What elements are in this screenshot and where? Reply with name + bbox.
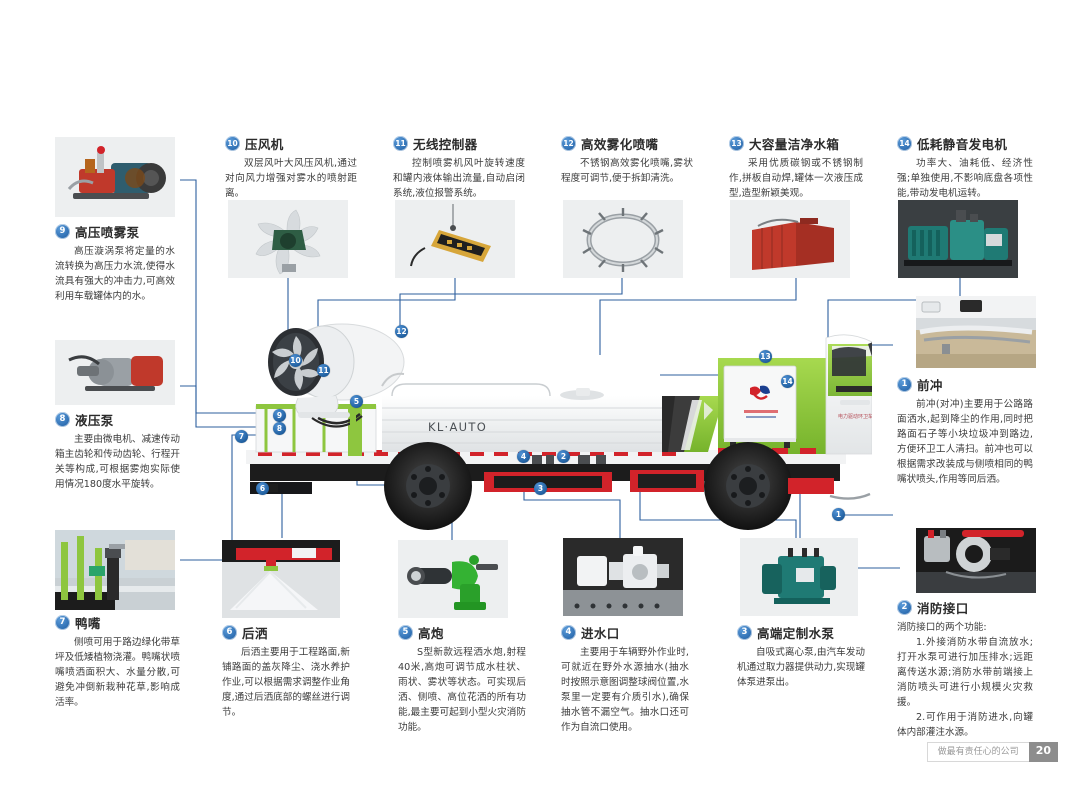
callout-10: 10 压风机 双层风叶大风压风机,通过对向风力增强对雾水的喷射距离。: [225, 134, 357, 201]
callout-1-head: 1 前冲: [897, 375, 1033, 394]
footer-page-number: 20: [1029, 742, 1058, 762]
truck-pin-11[interactable]: 11: [317, 364, 330, 377]
callout-11-body: 控制喷雾机风叶旋转速度和罐内液体输出流量,自动启闭系统,液位报警系统。: [393, 156, 525, 201]
hydraulic-pump-photo: [55, 340, 175, 405]
duckbill-graphic: [55, 530, 175, 610]
blower-graphic: [228, 200, 348, 278]
callout-14-body: 功率大、油耗低、经济性强;单独使用,不影响底盘各项性能,带动发电机运转。: [897, 156, 1033, 201]
callout-9-body: 高压漩涡泵将定量的水流转换为高压力水流,使得水流具有强大的冲击力,可高效利用车载…: [55, 244, 175, 304]
tank-graphic: [730, 200, 850, 278]
callout-11-title: 无线控制器: [413, 134, 478, 153]
callout-10-body: 双层风叶大风压风机,通过对向风力增强对雾水的喷射距离。: [225, 156, 357, 201]
callout-14-head: 14 低耗静音发电机: [897, 134, 1033, 153]
high-pressure-spray-pump-photo: [55, 137, 175, 217]
front-flush-graphic: [916, 296, 1036, 368]
callout-12-head: 12 高效雾化喷嘴: [561, 134, 693, 153]
callout-6-body: 后洒主要用于工程路面,新铺路面的盖灰降尘、浇水养护作业,可以根据需求调整作业角度…: [222, 645, 350, 720]
truck-pin-6[interactable]: 6: [256, 482, 269, 495]
callout-5-badge: 5: [398, 625, 413, 640]
truck-pin-9[interactable]: 9: [273, 409, 286, 422]
rear-spray-graphic: [222, 540, 340, 618]
front-flush-photo: [916, 296, 1036, 368]
callout-3-head: 3 高端定制水泵: [737, 623, 865, 642]
callout-4-head: 4 进水口: [561, 623, 689, 642]
callout-4-body: 主要用于车辆野外作业时,可就近在野外水源抽水(抽水时按照示意图调整球阀位置,水泵…: [561, 645, 689, 735]
callout-7-badge: 7: [55, 615, 70, 630]
water-cannon-photo: [398, 540, 508, 618]
callout-14: 14 低耗静音发电机 功率大、油耗低、经济性强;单独使用,不影响底盘各项性能,带…: [897, 134, 1033, 201]
callout-1-body: 前冲(对冲)主要用于公路路面洒水,起到降尘的作用,同时把路面石子等小块垃圾冲到路…: [897, 397, 1033, 487]
rear-spray-photo: [222, 540, 340, 618]
clean-water-tank-photo: [730, 200, 850, 278]
callout-12-title: 高效雾化喷嘴: [581, 134, 658, 153]
pump-graphic: [55, 137, 175, 217]
callout-3-badge: 3: [737, 625, 752, 640]
callout-13-title: 大容量洁净水箱: [749, 134, 839, 153]
callout-2: 2 消防接口 消防接口的两个功能: 1.外接消防水带自流放水;打开水泵可进行加压…: [897, 598, 1033, 740]
callout-2-body-2: 1.外接消防水带自流放水;打开水泵可进行加压排水;远距离传送水源;消防水带前端接…: [897, 635, 1033, 710]
wheel-front: [704, 442, 792, 530]
water-cannon-graphic: [398, 540, 508, 618]
callout-2-body: 消防接口的两个功能:: [897, 620, 1033, 635]
footer-slogan: 做最有责任心的公司: [927, 742, 1029, 762]
callout-1-title: 前冲: [917, 375, 943, 394]
callout-3-title: 高端定制水泵: [757, 623, 834, 642]
callout-12-body: 不锈钢高效雾化喷嘴,雾状程度可调节,便于拆卸清洗。: [561, 156, 693, 186]
callout-1: 1 前冲 前冲(对冲)主要用于公路路面洒水,起到降尘的作用,同时把路面石子等小块…: [897, 375, 1033, 487]
air-blower-photo: [228, 200, 348, 278]
callout-8-badge: 8: [55, 412, 70, 427]
callout-4-badge: 4: [561, 625, 576, 640]
callout-8-body: 主要由微电机、减速传动箱主齿轮和传动齿轮、行程开关等构成,可根据雾炮实际使用情况…: [55, 432, 180, 492]
callout-8-head: 8 液压泵: [55, 410, 180, 429]
wheel-rear: [384, 442, 472, 530]
callout-12: 12 高效雾化喷嘴 不锈钢高效雾化喷嘴,雾状程度可调节,便于拆卸清洗。: [561, 134, 693, 186]
callout-11-head: 11 无线控制器: [393, 134, 525, 153]
callout-9-title: 高压喷雾泵: [75, 222, 140, 241]
callout-13-badge: 13: [729, 136, 744, 151]
controller-graphic: [395, 200, 515, 278]
fire-connector-graphic: [916, 528, 1036, 593]
callout-2-badge: 2: [897, 600, 912, 615]
truck-body-brand-text: KL·AUTO: [428, 420, 487, 434]
generator-graphic: [898, 200, 1018, 278]
truck-pin-8[interactable]: 8: [273, 422, 286, 435]
callout-13-head: 13 大容量洁净水箱: [729, 134, 863, 153]
callout-10-title: 压风机: [245, 134, 284, 153]
atomizing-nozzle-photo: [563, 200, 683, 278]
callout-2-title: 消防接口: [917, 598, 969, 617]
callout-1-badge: 1: [897, 377, 912, 392]
callout-4: 4 进水口 主要用于车辆野外作业时,可就近在野外水源抽水(抽水时按照示意图调整球…: [561, 623, 689, 735]
callout-6-head: 6 后洒: [222, 623, 350, 642]
callout-13: 13 大容量洁净水箱 采用优质碳钢或不锈钢制作,拼板自动焊,罐体一次液压成型,造…: [729, 134, 863, 201]
truck-pin-5[interactable]: 5: [350, 395, 363, 408]
callout-11-badge: 11: [393, 136, 408, 151]
callout-4-title: 进水口: [581, 623, 620, 642]
callout-7-body: 侧喷可用于路边绿化带草坪及低矮植物浇灌。鸭嘴状喷嘴喷洒面积大、水量分散,可避免冲…: [55, 635, 180, 710]
duckbill-nozzle-photo: [55, 530, 175, 610]
callout-5-body: S型新款远程洒水炮,射程40米,高炮可调节成水柱状、雨状、雾状等状态。可实现后洒…: [398, 645, 526, 735]
low-noise-generator-photo: [898, 200, 1018, 278]
callout-6-badge: 6: [222, 625, 237, 640]
callout-7-title: 鸭嘴: [75, 613, 101, 632]
truck-pin-1[interactable]: 1: [832, 508, 845, 521]
water-pump-photo: [740, 538, 858, 616]
callout-10-head: 10 压风机: [225, 134, 357, 153]
water-pump-graphic: [740, 538, 858, 616]
truck-pin-12[interactable]: 12: [395, 325, 408, 338]
callout-14-badge: 14: [897, 136, 912, 151]
page-footer: 做最有责任心的公司 20: [927, 742, 1058, 762]
callout-14-title: 低耗静音发电机: [917, 134, 1007, 153]
truck-pin-13[interactable]: 13: [759, 350, 772, 363]
truck-pin-3[interactable]: 3: [534, 482, 547, 495]
hydraulic-pump-graphic: [55, 340, 175, 405]
truck-svg: KL·AUTO: [232, 300, 872, 550]
callout-7: 7 鸭嘴 侧喷可用于路边绿化带草坪及低矮植物浇灌。鸭嘴状喷嘴喷洒面积大、水量分散…: [55, 613, 180, 710]
water-inlet-photo: [563, 538, 683, 616]
nozzle-ring-graphic: [563, 200, 683, 278]
callout-6-title: 后洒: [242, 623, 268, 642]
truck-pin-7[interactable]: 7: [235, 430, 248, 443]
callout-8-title: 液压泵: [75, 410, 114, 429]
truck-pin-4[interactable]: 4: [517, 450, 530, 463]
fire-hydrant-connector-photo: [916, 528, 1036, 593]
callout-3-body: 自吸式离心泵,由汽车发动机通过取力器提供动力,实现罐体泵进泵出。: [737, 645, 865, 690]
callout-9-badge: 9: [55, 224, 70, 239]
callout-8: 8 液压泵 主要由微电机、减速传动箱主齿轮和传动齿轮、行程开关等构成,可根据雾炮…: [55, 410, 180, 492]
truck-pin-14[interactable]: 14: [781, 375, 794, 388]
callout-11: 11 无线控制器 控制喷雾机风叶旋转速度和罐内液体输出流量,自动启闭系统,液位报…: [393, 134, 525, 201]
callout-10-badge: 10: [225, 136, 240, 151]
wireless-controller-photo: [395, 200, 515, 278]
callout-5-head: 5 高炮: [398, 623, 526, 642]
callout-9-head: 9 高压喷雾泵: [55, 222, 175, 241]
callout-7-head: 7 鸭嘴: [55, 613, 180, 632]
callout-9: 9 高压喷雾泵 高压漩涡泵将定量的水流转换为高压力水流,使得水流具有强大的冲击力…: [55, 222, 175, 304]
callout-5: 5 高炮 S型新款远程洒水炮,射程40米,高炮可调节成水柱状、雨状、雾状等状态。…: [398, 623, 526, 735]
callout-2-head: 2 消防接口: [897, 598, 1033, 617]
truck-illustration: KL·AUTO: [232, 300, 872, 550]
callout-3: 3 高端定制水泵 自吸式离心泵,由汽车发动机通过取力器提供动力,实现罐体泵进泵出…: [737, 623, 865, 690]
truck-cab-text: 电力驱动环卫车: [838, 413, 872, 420]
callout-12-badge: 12: [561, 136, 576, 151]
callout-13-body: 采用优质碳钢或不锈钢制作,拼板自动焊,罐体一次液压成型,造型新颖美观。: [729, 156, 863, 201]
product-diagram-page: KL·AUTO: [0, 0, 1080, 810]
truck-pin-10[interactable]: 10: [289, 354, 302, 367]
truck-pin-2[interactable]: 2: [557, 450, 570, 463]
callout-5-title: 高炮: [418, 623, 444, 642]
callout-6: 6 后洒 后洒主要用于工程路面,新铺路面的盖灰降尘、浇水养护作业,可以根据需求调…: [222, 623, 350, 720]
callout-2-body-3: 2.可作用于消防进水,向罐体内部灌注水源。: [897, 710, 1033, 740]
water-inlet-graphic: [563, 538, 683, 616]
